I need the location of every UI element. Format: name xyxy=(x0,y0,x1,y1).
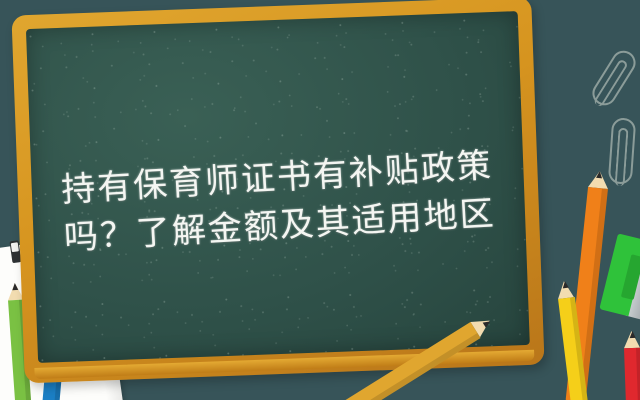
paperclip-inner-loop xyxy=(615,128,629,187)
pencil-body xyxy=(624,348,640,400)
paperclip-vertical-icon xyxy=(608,117,637,185)
pencil-lead xyxy=(629,331,635,338)
pencil-lead xyxy=(12,283,18,290)
red-pencil xyxy=(624,348,640,400)
pencil-lead xyxy=(561,281,568,289)
pencil-lead xyxy=(596,171,603,179)
banner-scene: 持有保育师证书有补贴政策 吗？了解金额及其适用地区 xyxy=(0,0,640,400)
